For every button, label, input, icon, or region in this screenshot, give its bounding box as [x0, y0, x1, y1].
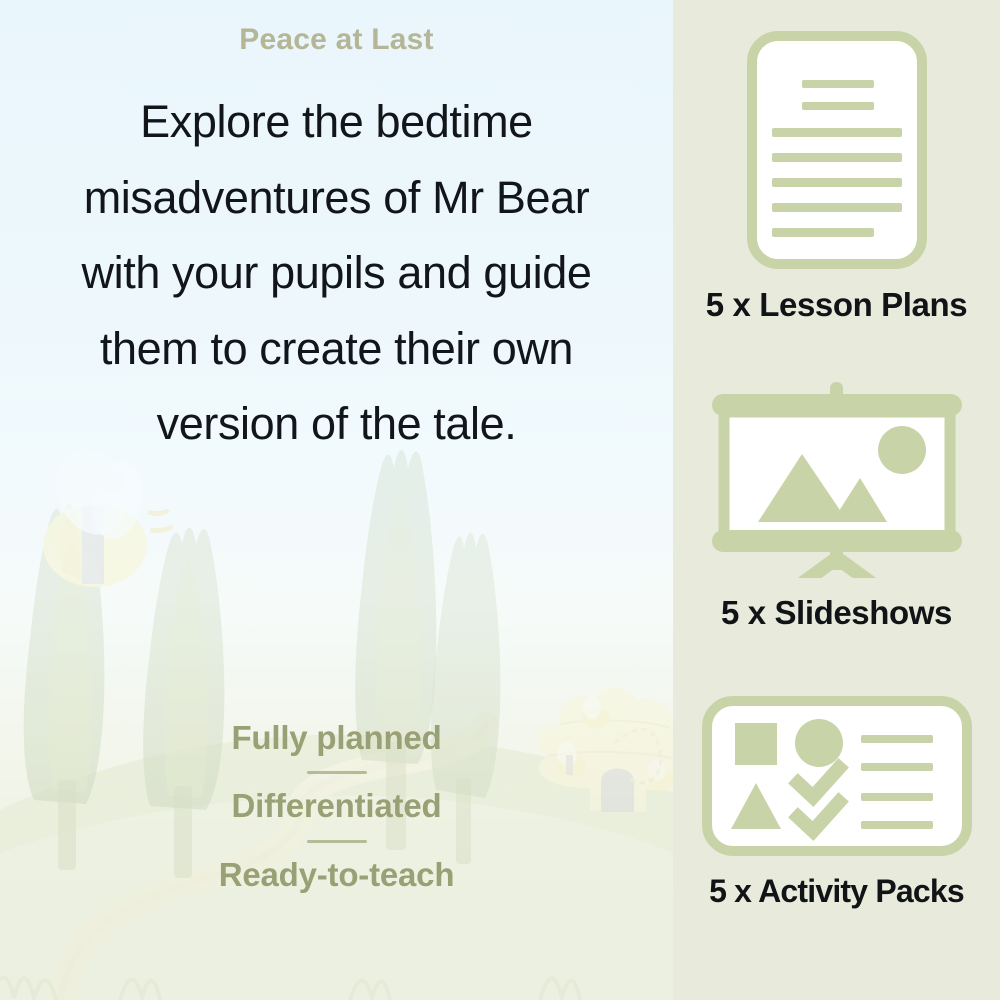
left-panel: Peace at Last Explore the bedtime misadv…: [0, 0, 673, 1000]
left-content: Peace at Last Explore the bedtime misadv…: [0, 0, 673, 1000]
feature-list: Fully planned Differentiated Ready-to-te…: [0, 718, 673, 895]
feature-item-differentiated: Differentiated: [232, 786, 442, 826]
resource-item-slideshows: 5 x Slideshows: [673, 382, 1000, 632]
feature-divider: [307, 771, 367, 774]
feature-divider: [307, 840, 367, 843]
activity-card-icon-wrapper: [701, 695, 973, 857]
blurb-text: Explore the bedtime misadventures of Mr …: [57, 84, 617, 462]
resource-caption-lesson-plans: 5 x Lesson Plans: [706, 286, 967, 324]
resource-caption-activity-packs: 5 x Activity Packs: [709, 873, 964, 910]
right-panel: 5 x Lesson Plans: [673, 0, 1000, 1000]
projector-screen-icon: [706, 382, 968, 578]
feature-item-fully-planned: Fully planned: [231, 718, 441, 758]
resource-item-activity-packs: 5 x Activity Packs: [673, 695, 1000, 910]
poster-canvas: Peace at Last Explore the bedtime misadv…: [0, 0, 1000, 1000]
document-icon: [746, 30, 928, 270]
resource-item-lesson-plans: 5 x Lesson Plans: [673, 30, 1000, 324]
document-icon-wrapper: [746, 30, 928, 270]
resource-caption-slideshows: 5 x Slideshows: [721, 594, 952, 632]
activity-card-icon: [701, 695, 973, 857]
projector-screen-icon-wrapper: [706, 382, 968, 578]
feature-item-ready-to-teach: Ready-to-teach: [219, 855, 455, 895]
book-title: Peace at Last: [239, 22, 433, 58]
